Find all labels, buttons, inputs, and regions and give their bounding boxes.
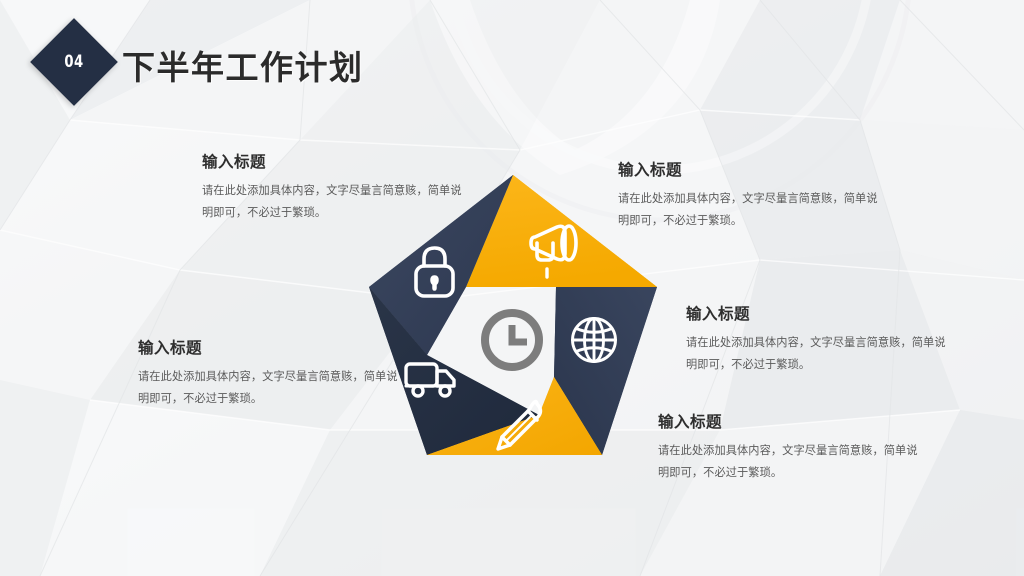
page-title: 下半年工作计划 xyxy=(122,41,364,89)
block-title: 输入标题 xyxy=(138,336,400,358)
block-body: 请在此处添加具体内容，文字尽量言简意赅，简单说明即可，不必过于繁琐。 xyxy=(138,366,400,410)
block-body: 请在此处添加具体内容，文字尽量言简意赅，简单说明即可，不必过于繁琐。 xyxy=(686,332,948,376)
text-block-bottom-left: 输入标题 请在此处添加具体内容，文字尽量言简意赅，简单说明即可，不必过于繁琐。 xyxy=(138,336,400,410)
text-block-bottom-right: 输入标题 请在此处添加具体内容，文字尽量言简意赅，简单说明即可，不必过于繁琐。 xyxy=(658,410,920,484)
block-title: 输入标题 xyxy=(202,150,464,172)
block-title: 输入标题 xyxy=(686,302,948,324)
block-body: 请在此处添加具体内容，文字尽量言简意赅，简单说明即可，不必过于繁琐。 xyxy=(618,188,880,232)
text-block-top-right: 输入标题 请在此处添加具体内容，文字尽量言简意赅，简单说明即可，不必过于繁琐。 xyxy=(618,158,880,232)
clock-icon xyxy=(485,313,539,367)
globe-icon xyxy=(573,319,616,362)
block-title: 输入标题 xyxy=(658,410,920,432)
block-body: 请在此处添加具体内容，文字尽量言简意赅，简单说明即可，不必过于繁琐。 xyxy=(658,440,920,484)
text-block-top-left: 输入标题 请在此处添加具体内容，文字尽量言简意赅，简单说明即可，不必过于繁琐。 xyxy=(202,150,464,224)
text-block-middle-right: 输入标题 请在此处添加具体内容，文字尽量言简意赅，简单说明即可，不必过于繁琐。 xyxy=(686,302,948,376)
section-number-label: 04 xyxy=(47,31,100,93)
presentation-slide: 04 下半年工作计划 xyxy=(0,0,1024,576)
block-title: 输入标题 xyxy=(618,158,880,180)
slide-header: 04 下半年工作计划 xyxy=(0,0,1024,120)
block-body: 请在此处添加具体内容，文字尽量言简意赅，简单说明即可，不必过于繁琐。 xyxy=(202,180,464,224)
